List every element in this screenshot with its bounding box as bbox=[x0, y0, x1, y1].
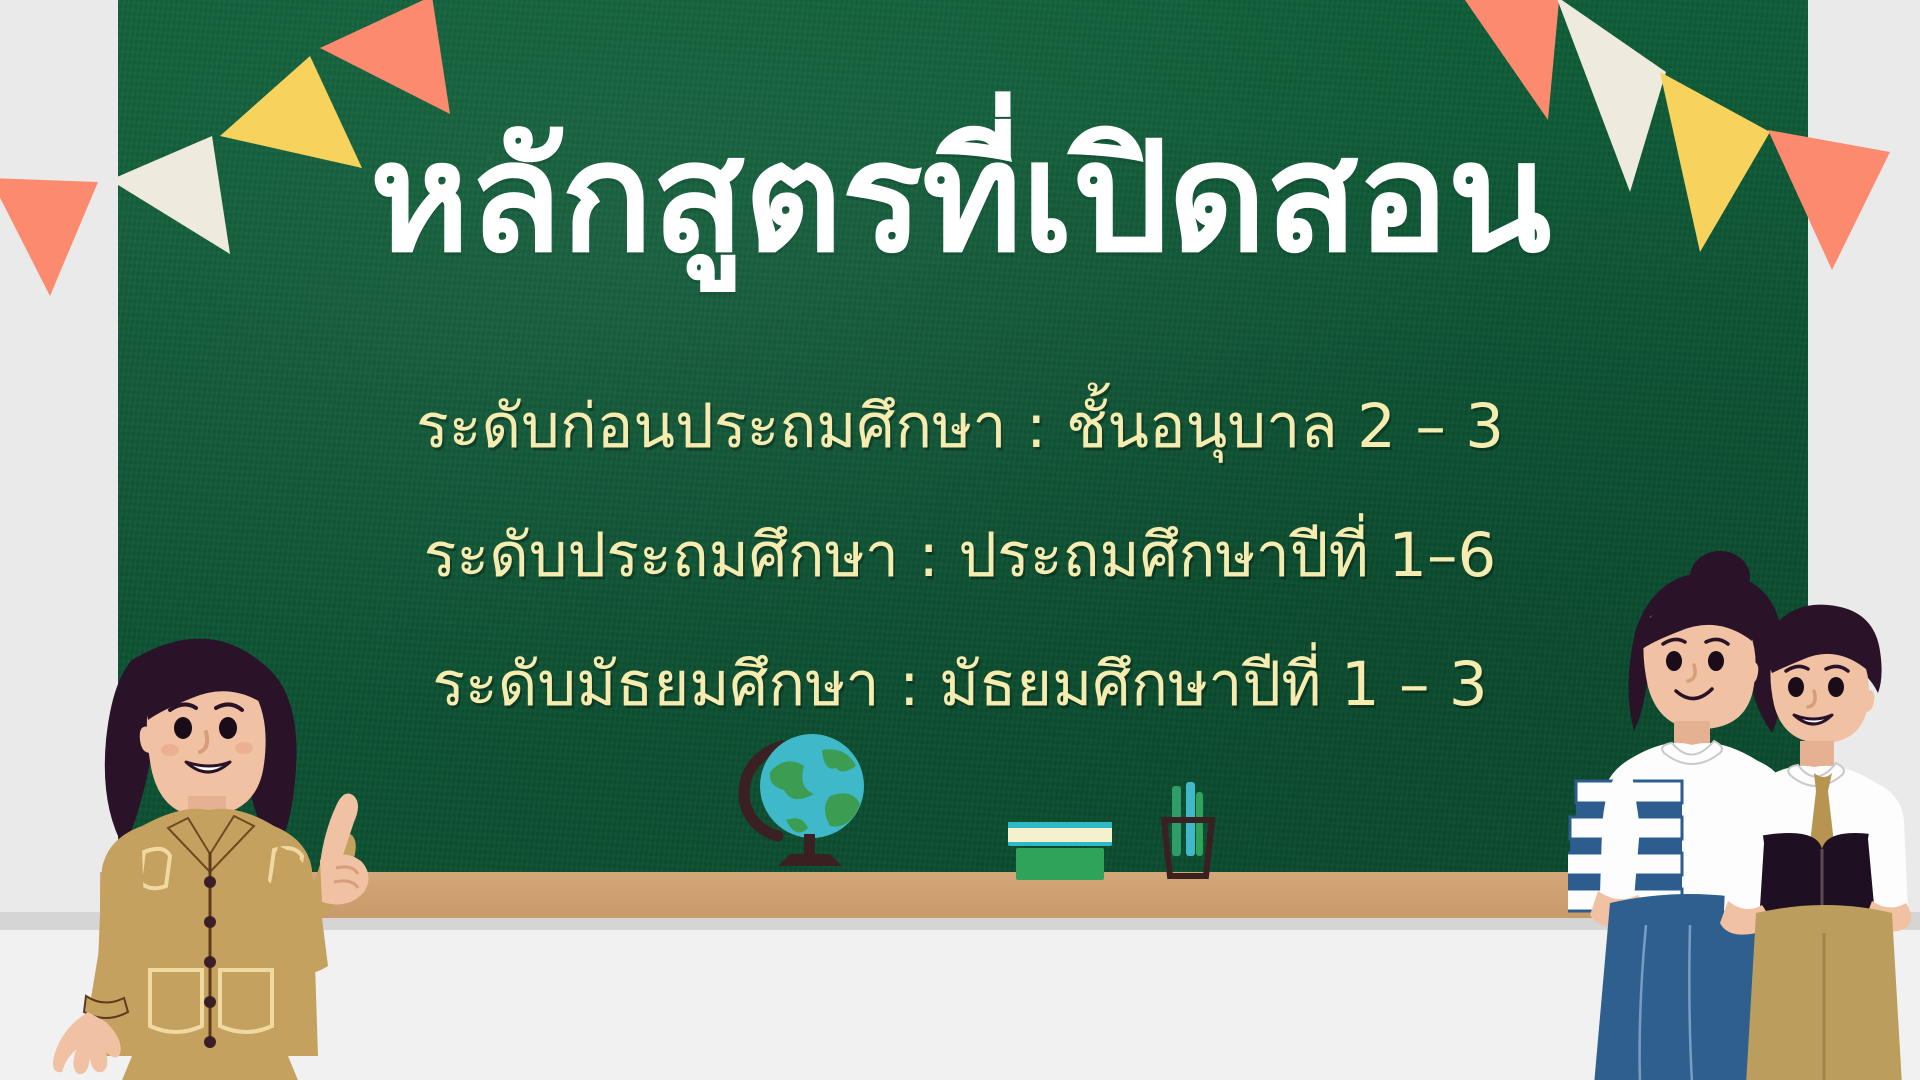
teacher-character bbox=[20, 620, 400, 1080]
globe-icon bbox=[726, 716, 886, 880]
page-title: หลักสูตรที่เปิดสอน bbox=[0, 116, 1920, 277]
student-characters bbox=[1568, 545, 1920, 1080]
poster-canvas: หลักสูตรที่เปิดสอน ระดับก่อนประถมศึกษา :… bbox=[0, 0, 1920, 1080]
course-line-preschool: ระดับก่อนประถมศึกษา : ชั้นอนุบาล 2 – 3 bbox=[0, 396, 1920, 457]
book-stack-icon bbox=[1000, 796, 1120, 886]
pencil-cup-icon bbox=[1142, 780, 1232, 889]
